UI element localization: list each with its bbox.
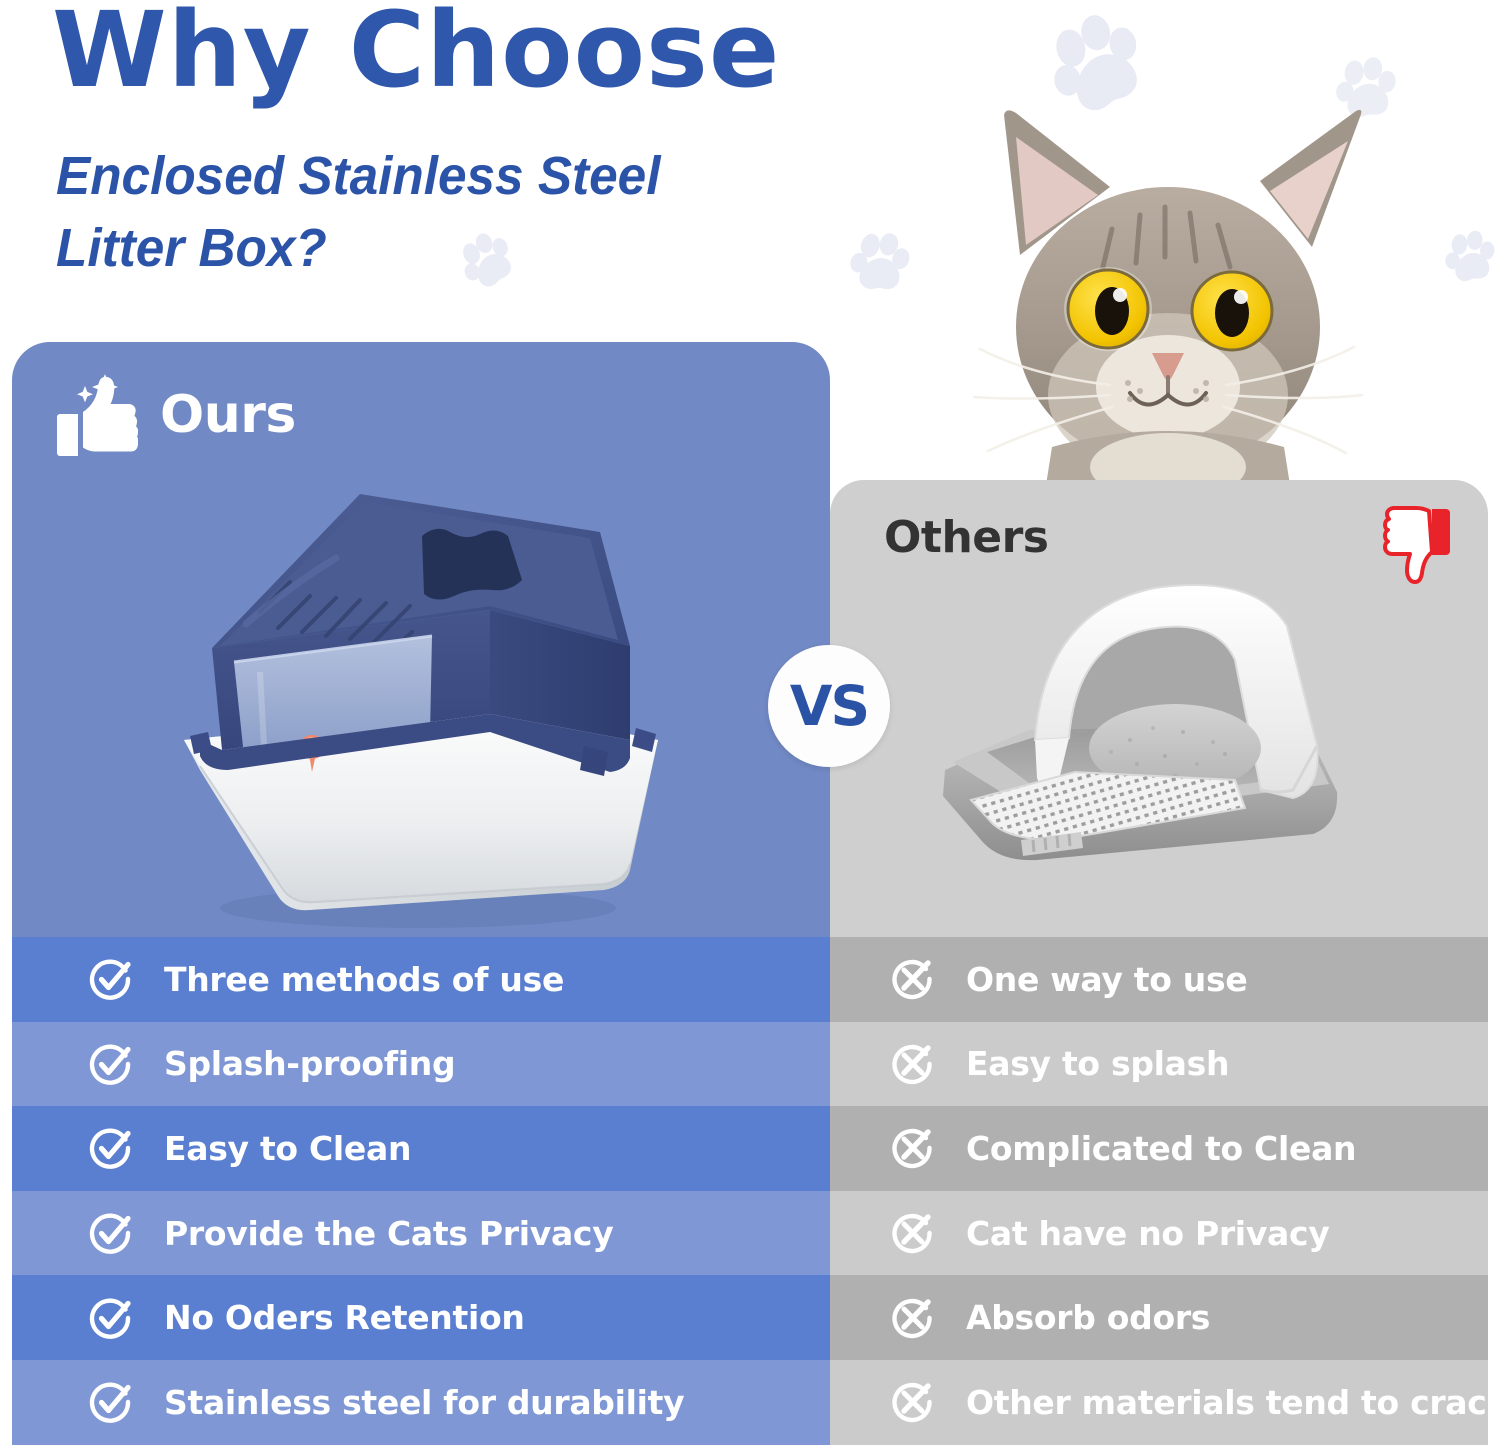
list-item-label: One way to use (966, 960, 1247, 999)
cat-photo (960, 95, 1400, 485)
paw-print-icon (1440, 225, 1500, 285)
list-item[interactable]: Easy to Clean (12, 1106, 830, 1191)
list-item-label: Cat have no Privacy (966, 1214, 1329, 1253)
list-item[interactable]: Complicated to Clean (830, 1106, 1488, 1191)
list-item[interactable]: Easy to splash (830, 1022, 1488, 1107)
x-circle-icon (890, 1041, 936, 1087)
thumbs-down-icon (1382, 505, 1456, 589)
list-item-label: Three methods of use (164, 960, 564, 999)
list-item[interactable]: Three methods of use (12, 937, 830, 1022)
list-item[interactable]: Absorb odors (830, 1275, 1488, 1360)
list-item[interactable]: One way to use (830, 937, 1488, 1022)
x-circle-icon (890, 1125, 936, 1171)
list-item-label: No Oders Retention (164, 1298, 525, 1337)
check-circle-icon (88, 1295, 134, 1341)
list-item-label: Stainless steel for durability (164, 1383, 684, 1422)
ours-product-image (160, 440, 680, 940)
list-item[interactable]: Stainless steel for durability (12, 1360, 830, 1445)
ours-label: Ours (160, 385, 296, 445)
page-title: Why Choose (52, 0, 780, 105)
list-item[interactable]: Other materials tend to crack (830, 1360, 1488, 1445)
others-feature-list: One way to use Easy to splash Complicate… (830, 937, 1488, 1445)
others-product-image (925, 540, 1355, 910)
x-circle-icon (890, 1379, 936, 1425)
check-circle-icon (88, 956, 134, 1002)
x-circle-icon (890, 1295, 936, 1341)
check-circle-icon (88, 1210, 134, 1256)
x-circle-icon (890, 1210, 936, 1256)
list-item[interactable]: Provide the Cats Privacy (12, 1191, 830, 1276)
ours-feature-list: Three methods of use Splash-proofing Eas… (12, 937, 830, 1445)
list-item[interactable]: Cat have no Privacy (830, 1191, 1488, 1276)
infographic-root: Why Choose Enclosed Stainless Steel Litt… (0, 0, 1500, 1445)
list-item[interactable]: Splash-proofing (12, 1022, 830, 1107)
list-item-label: Provide the Cats Privacy (164, 1214, 613, 1253)
x-circle-icon (890, 956, 936, 1002)
list-item-label: Absorb odors (966, 1298, 1210, 1337)
thumbs-up-sparkle-icon (52, 370, 138, 460)
vs-label: VS (790, 674, 868, 738)
list-item[interactable]: No Oders Retention (12, 1275, 830, 1360)
page-subtitle: Enclosed Stainless Steel Litter Box? (56, 140, 660, 285)
list-item-label: Other materials tend to crack (966, 1383, 1500, 1422)
check-circle-icon (88, 1379, 134, 1425)
list-item-label: Easy to splash (966, 1044, 1229, 1083)
list-item-label: Splash-proofing (164, 1044, 455, 1083)
thumbs-down-wrapper (1382, 505, 1456, 594)
vs-badge: VS (768, 645, 890, 767)
paw-print-icon (845, 225, 915, 295)
list-item-label: Complicated to Clean (966, 1129, 1356, 1168)
check-circle-icon (88, 1041, 134, 1087)
check-circle-icon (88, 1125, 134, 1171)
list-item-label: Easy to Clean (164, 1129, 411, 1168)
